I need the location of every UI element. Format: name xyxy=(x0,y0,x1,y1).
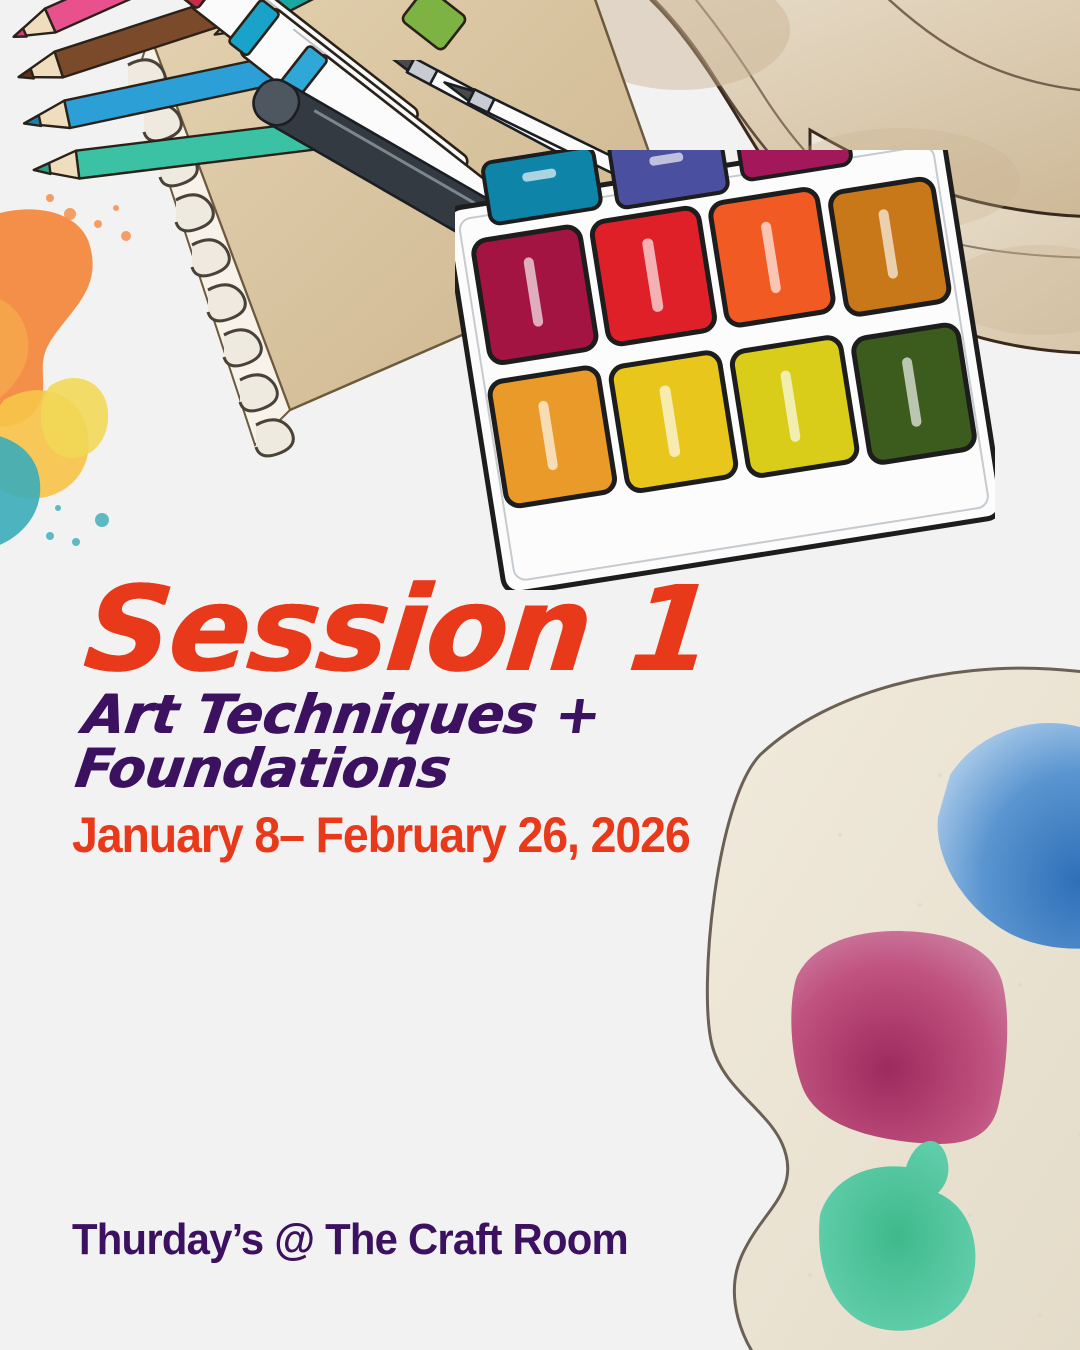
headline-block: Session 1 Art Techniques + Foundations J… xyxy=(72,575,972,860)
magenta-paint-blob xyxy=(791,931,1007,1144)
session-subtitle: Art Techniques + Foundations xyxy=(72,688,987,796)
watercolor-splash xyxy=(0,190,260,610)
session-dates: January 8– February 26, 2026 xyxy=(72,810,909,860)
session-title: Session 1 xyxy=(80,575,983,684)
location-line: Thurday’s @ The Craft Room xyxy=(72,1215,628,1265)
poster-canvas: Session 1 Art Techniques + Foundations J… xyxy=(0,0,1080,1350)
watercolor-pan-palette xyxy=(455,150,995,590)
